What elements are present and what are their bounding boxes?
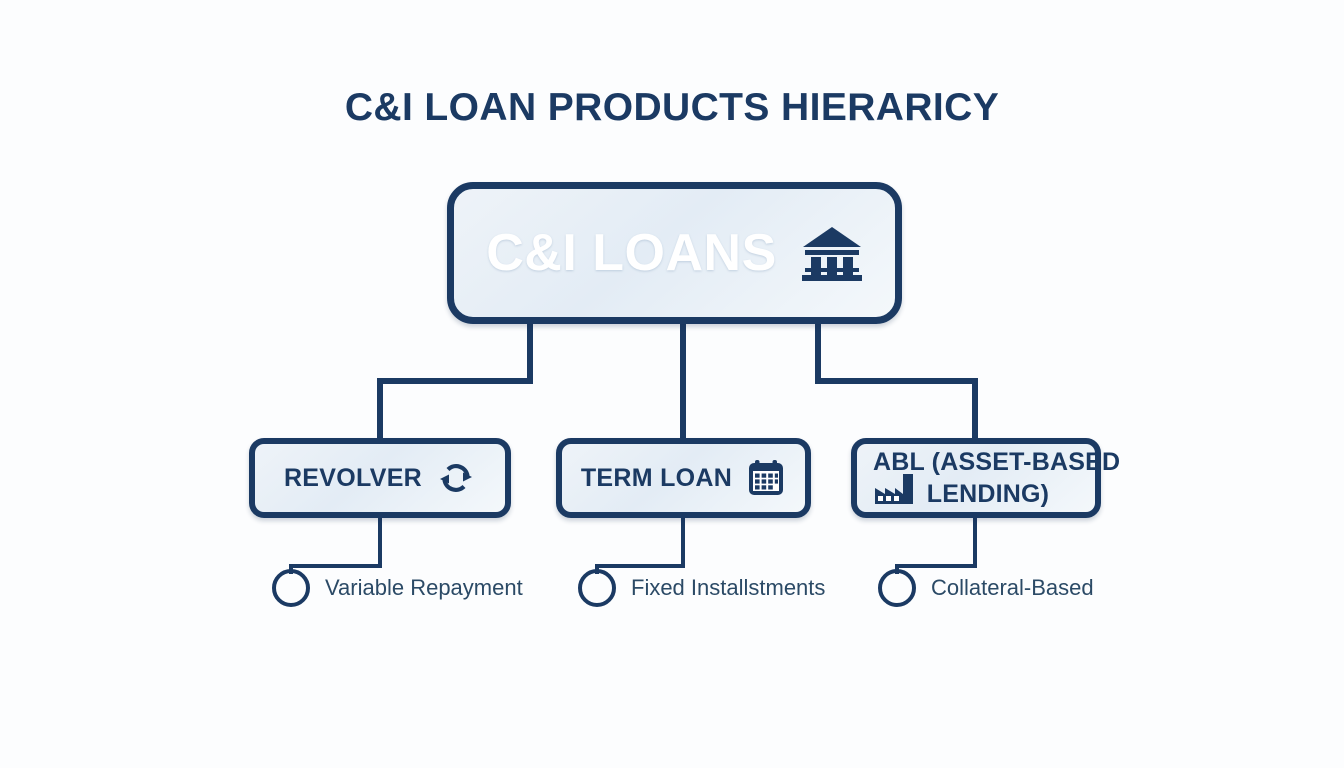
leaf-collateral-based-label: Collateral-Based — [931, 575, 1094, 601]
circle-outline-icon — [578, 569, 616, 607]
node-abl[interactable]: ABL (ASSET-BASED LENDING) — [851, 438, 1101, 518]
node-root-ci-loans[interactable]: C&I LOANS — [447, 182, 902, 324]
leaf-variable-repayment[interactable]: Variable Repayment — [272, 569, 523, 607]
calendar-icon — [746, 458, 786, 498]
circle-outline-icon — [878, 569, 916, 607]
node-term-loan[interactable]: TERM LOAN — [556, 438, 811, 518]
node-revolver-label: REVOLVER — [284, 465, 422, 491]
connector-abl-leaf — [897, 518, 975, 574]
refresh-cycle-icon — [436, 458, 476, 498]
node-root-label: C&I LOANS — [486, 227, 777, 279]
connector-revolver-leaf — [291, 518, 380, 574]
connector-term-leaf — [597, 518, 683, 574]
node-term-loan-label: TERM LOAN — [581, 465, 732, 491]
leaf-fixed-installments-label: Fixed Installstments — [631, 575, 825, 601]
leaf-variable-repayment-label: Variable Repayment — [325, 575, 523, 601]
connector-root-revolver — [380, 324, 530, 438]
circle-outline-icon — [272, 569, 310, 607]
node-revolver[interactable]: REVOLVER — [249, 438, 511, 518]
leaf-collateral-based[interactable]: Collateral-Based — [878, 569, 1094, 607]
factory-icon — [873, 472, 917, 506]
bank-building-icon — [801, 224, 863, 282]
connector-root-abl — [818, 324, 975, 438]
leaf-fixed-installments[interactable]: Fixed Installstments — [578, 569, 825, 607]
diagram-canvas: C&I LOAN PRODUCTS HIERARICY C&I LOANS — [0, 0, 1344, 768]
connector-lines — [0, 0, 1344, 768]
